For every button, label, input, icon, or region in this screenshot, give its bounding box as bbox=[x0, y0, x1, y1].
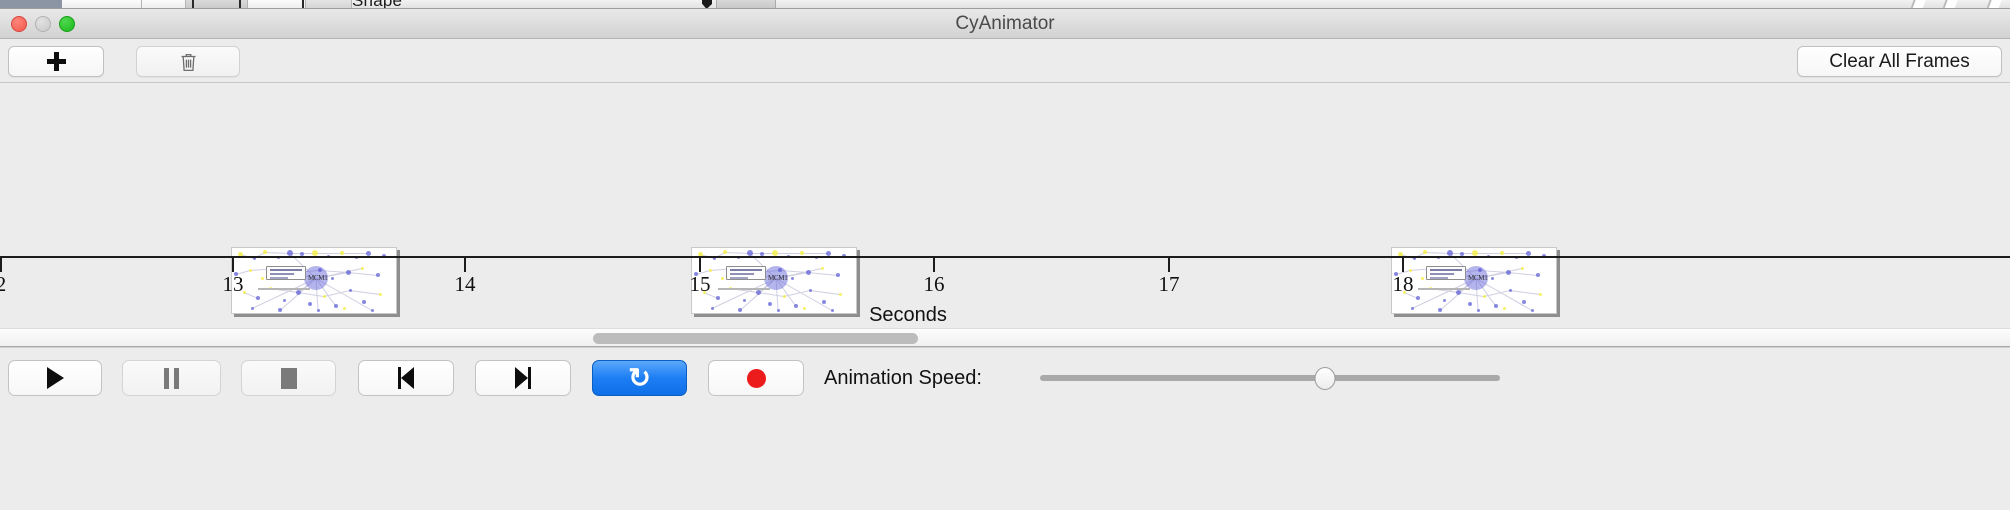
ruler-tick bbox=[1168, 258, 1170, 272]
background-window-slash bbox=[1986, 0, 2001, 9]
graph-edge bbox=[1475, 253, 1502, 254]
ruler-tick-label: 18 bbox=[1393, 272, 1414, 297]
cyanimator-window: CyAnimator Clear All Frames MCM1MCM1MCM1 bbox=[0, 9, 2010, 510]
loop-button[interactable]: ↻ bbox=[592, 360, 687, 396]
graph-node bbox=[826, 251, 831, 256]
ruler-tick-label: 17 bbox=[1159, 272, 1180, 297]
first-frame-button[interactable] bbox=[358, 360, 454, 396]
play-icon bbox=[47, 367, 64, 389]
timeline-panel[interactable]: MCM1MCM1MCM1 2131415161718 Seconds bbox=[0, 83, 2010, 328]
background-window-sidebar bbox=[0, 0, 62, 9]
graph-node bbox=[1423, 250, 1427, 254]
record-icon bbox=[747, 369, 766, 388]
ruler-tick bbox=[464, 258, 466, 272]
skip-back-icon bbox=[398, 367, 414, 389]
background-window-slash bbox=[1910, 0, 1925, 9]
pause-button[interactable] bbox=[122, 360, 221, 396]
graph-edge bbox=[775, 253, 802, 254]
graph-node bbox=[366, 251, 371, 256]
ruler-tick bbox=[1402, 258, 1404, 272]
ruler-tick-label: 16 bbox=[924, 272, 945, 297]
ruler-tick bbox=[232, 258, 234, 272]
skip-forward-icon bbox=[515, 367, 531, 389]
stop-icon bbox=[281, 368, 297, 389]
delete-frame-button[interactable] bbox=[136, 46, 240, 77]
ruler-tick-label: 2 bbox=[0, 272, 6, 297]
graph-node bbox=[263, 250, 267, 254]
background-window-cell bbox=[248, 0, 306, 9]
timeline-scrollbar[interactable] bbox=[0, 328, 2010, 347]
record-button[interactable] bbox=[708, 360, 804, 396]
background-window-slash bbox=[1942, 0, 1957, 9]
background-window-selection-marker bbox=[702, 0, 712, 9]
loop-icon: ↻ bbox=[628, 365, 651, 392]
axis-title: Seconds bbox=[869, 304, 947, 327]
timeline-scrollbar-thumb[interactable] bbox=[593, 333, 918, 344]
trash-icon bbox=[180, 52, 197, 72]
background-window-cell bbox=[306, 0, 352, 9]
playback-control-bar: ↻ Animation Speed: bbox=[0, 347, 2010, 409]
graph-edge bbox=[802, 253, 828, 254]
graph-node bbox=[1526, 251, 1531, 256]
animation-speed-label: Animation Speed: bbox=[824, 360, 982, 396]
graph-node bbox=[1500, 251, 1504, 255]
ruler-tick-label: 15 bbox=[690, 272, 711, 297]
background-window-tick bbox=[239, 0, 241, 9]
background-window-cell bbox=[142, 0, 186, 9]
timeline-ruler: 2131415161718 Seconds bbox=[0, 256, 2010, 328]
add-frame-button[interactable] bbox=[8, 46, 104, 77]
plus-icon bbox=[47, 52, 66, 71]
graph-node bbox=[800, 251, 804, 255]
ruler-tick bbox=[933, 258, 935, 272]
toolbar: Clear All Frames bbox=[0, 39, 2010, 83]
clear-all-frames-button[interactable]: Clear All Frames bbox=[1797, 46, 2002, 77]
graph-node bbox=[723, 250, 727, 254]
ruler-tick bbox=[0, 258, 2, 272]
graph-node bbox=[340, 251, 344, 255]
last-frame-button[interactable] bbox=[475, 360, 571, 396]
graph-edge bbox=[342, 253, 368, 254]
background-window-strip: Shape bbox=[0, 0, 2010, 9]
clear-all-frames-label: Clear All Frames bbox=[1829, 51, 1969, 73]
play-button[interactable] bbox=[8, 360, 102, 396]
titlebar: CyAnimator bbox=[0, 9, 2010, 39]
ruler-baseline bbox=[0, 256, 2010, 258]
background-window-shape-label: Shape bbox=[352, 0, 402, 9]
ruler-tick-label: 14 bbox=[455, 272, 476, 297]
background-window-tick bbox=[192, 0, 194, 9]
graph-edge bbox=[315, 253, 342, 254]
ruler-tick bbox=[699, 258, 701, 272]
slider-thumb[interactable] bbox=[1315, 367, 1336, 390]
stop-button[interactable] bbox=[241, 360, 336, 396]
graph-edge bbox=[1502, 253, 1528, 254]
background-window-cell bbox=[62, 0, 142, 9]
background-window-tick bbox=[302, 0, 304, 9]
background-window-grey-box bbox=[716, 0, 776, 9]
slider-track bbox=[1040, 375, 1500, 381]
window-title: CyAnimator bbox=[0, 9, 2010, 39]
pause-icon bbox=[164, 368, 179, 389]
ruler-tick-label: 13 bbox=[223, 272, 244, 297]
animation-speed-slider[interactable] bbox=[1040, 360, 1500, 396]
